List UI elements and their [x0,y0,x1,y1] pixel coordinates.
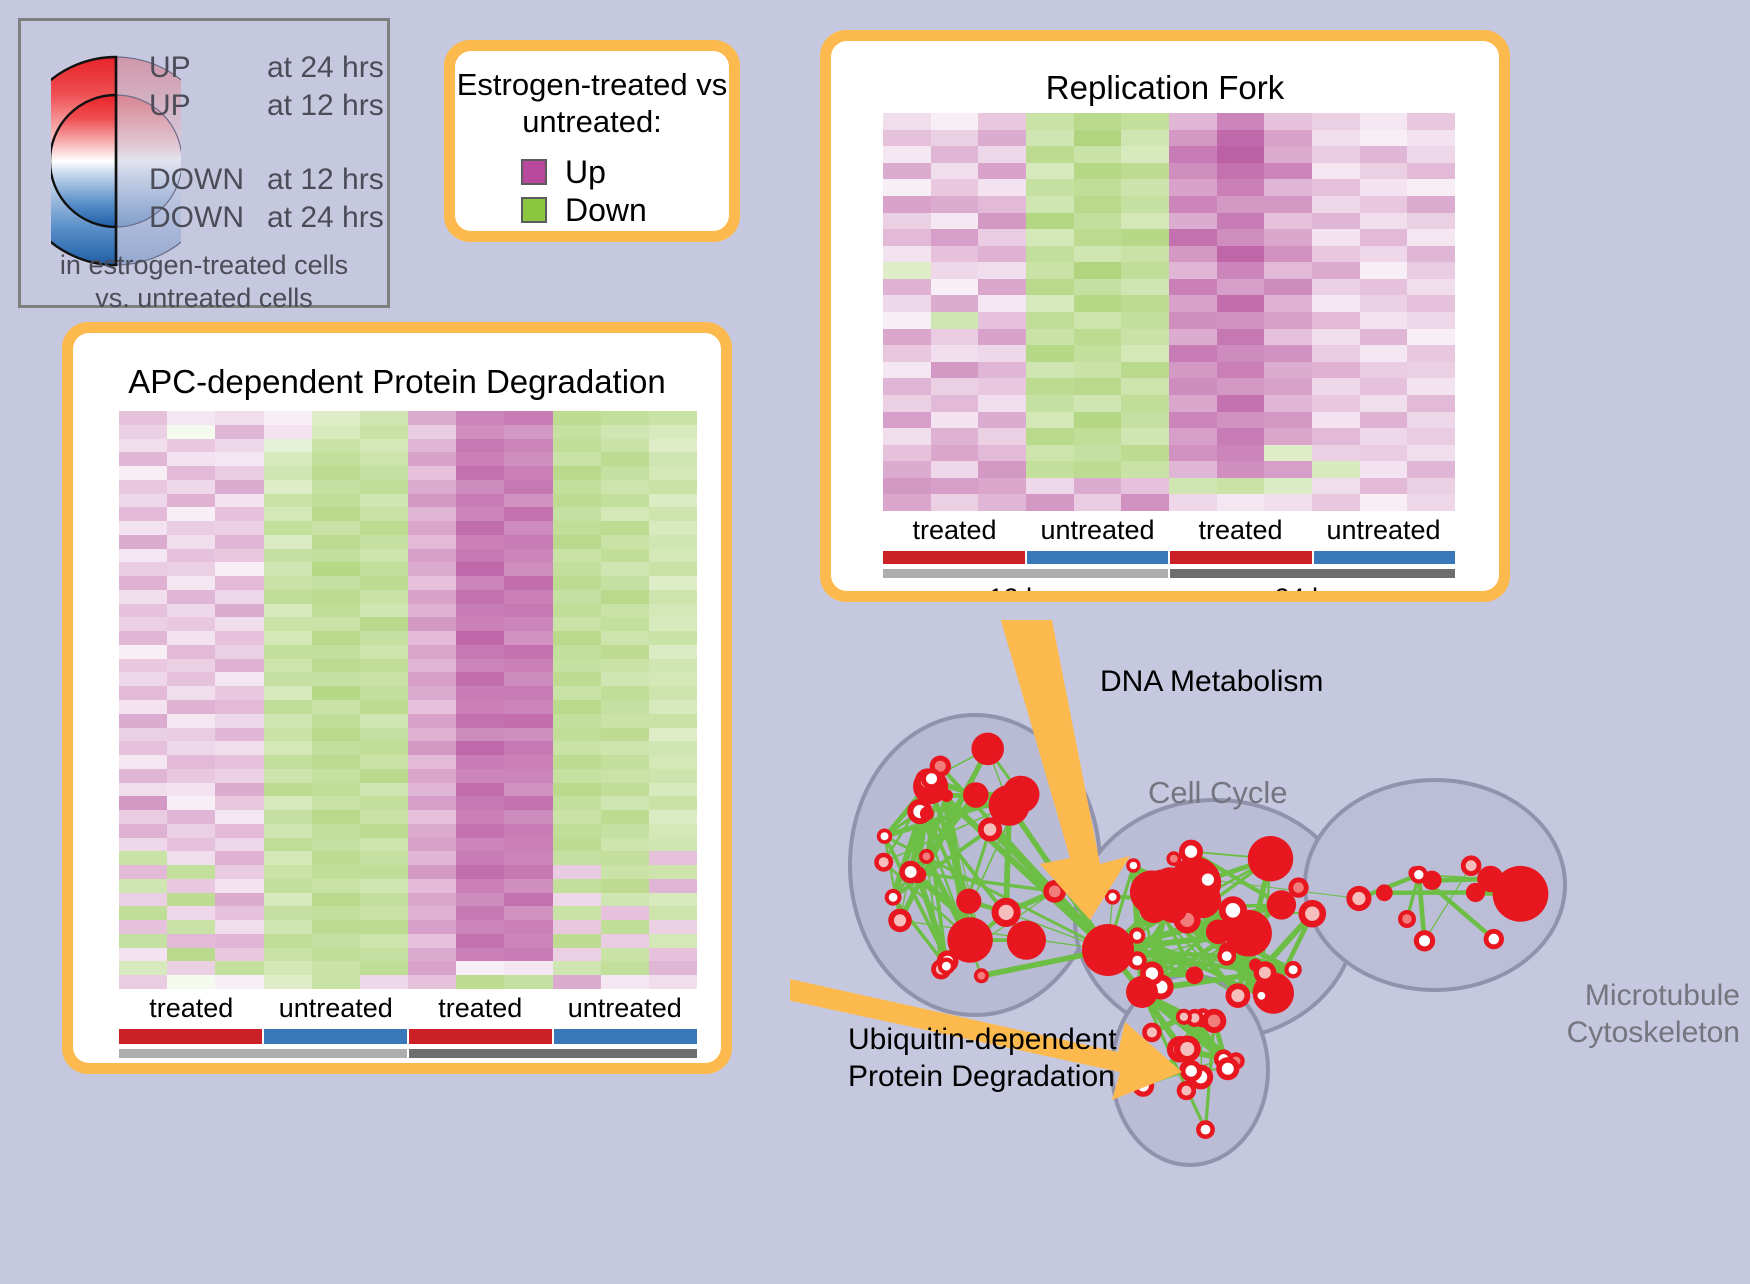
network-node-core [1466,860,1477,871]
replication-fork-panel: Replication Fork treateduntreatedtreated… [820,30,1510,602]
timepoint-label: 24 hrs [1169,583,1455,591]
legend-row-value: at 12 hrs [267,89,384,123]
estrogen-legend-title: Estrogen-treated vs untreated: [455,67,729,140]
network-node-core [923,853,931,861]
network-node [1267,890,1296,919]
group-color-bar [264,1029,407,1044]
network-node-core [889,893,898,902]
legend-row: UP at 24 hrs [149,51,389,89]
pathway-network-diagram: DNA Metabolism Cell Cycle Microtubule Cy… [790,620,1750,1279]
legend-row: DOWN at 24 hrs [149,201,389,239]
apc-panel: APC-dependent Protein Degradation treate… [62,322,732,1074]
network-node-core [1231,989,1244,1002]
network-node [1158,893,1188,923]
network-node-core [1259,967,1271,979]
legend-row-key: DOWN [149,201,267,235]
group-label: untreated [1026,515,1169,549]
legend-row-key: UP [149,89,267,123]
network-node [1007,921,1046,960]
apc-time-bars [119,1049,697,1058]
network-node-core [881,832,889,840]
network-node [970,923,988,941]
network-node [1126,976,1158,1008]
network-node-core [978,972,986,980]
network-node-core [1132,956,1142,966]
network-node [1082,924,1134,976]
network-node [1206,920,1231,945]
replication-fork-heatmap [883,113,1455,511]
network-node-core [1489,934,1500,945]
figure-canvas: UP at 24 hrs UP at 12 hrs DOWN at 12 hrs… [0,0,1750,1279]
network-node [940,789,953,802]
panel-title: APC-dependent Protein Degradation [73,363,721,401]
network-node-core [1352,892,1365,905]
legend-row-value: at 24 hrs [267,201,384,235]
group-color-bar [119,1029,262,1044]
network-node-core [1414,870,1423,879]
estrogen-legend-card: Estrogen-treated vs untreated: Up Down [444,40,740,242]
network-node-core [1109,893,1117,901]
replication-fork-group-bars [883,551,1455,564]
legend-row-key: DOWN [149,163,267,197]
network-node-core [1130,862,1138,870]
network-node [1248,836,1293,881]
network-node [971,733,1004,766]
network-label-dna-metabolism: DNA Metabolism [1100,665,1323,699]
network-node-core [879,857,889,867]
color-scale-rows: UP at 24 hrs UP at 12 hrs DOWN at 12 hrs… [149,51,389,239]
group-label: treated [119,993,264,1027]
network-label-cell-cycle: Cell Cycle [1148,775,1288,811]
network-node [956,889,981,914]
network-node-core [894,914,906,926]
network-node-core [1170,855,1178,863]
network-label-microtubule-cytoskeleton: Microtubule Cytoskeleton [1360,978,1740,1051]
apc-group-bars [119,1029,697,1044]
legend-row-key: UP [149,51,267,85]
color-scale-legend: UP at 24 hrs UP at 12 hrs DOWN at 12 hrs… [18,18,390,308]
legend-item-up: Up [521,153,647,191]
network-node-core [984,823,997,836]
network-node [1376,884,1393,901]
network-node-core [1186,1065,1197,1076]
replication-fork-time-bars [883,569,1455,578]
network-node-core [1208,1015,1221,1028]
group-color-bar [1170,551,1312,564]
network-node-core [1402,914,1411,923]
network-node-core [942,962,951,971]
network-node-core [1222,951,1232,961]
legend-row: UP at 12 hrs [149,89,389,127]
legend-item-label: Up [565,154,606,191]
network-node-core [1226,903,1241,918]
network-node [963,782,989,808]
timepoint-color-bar [883,569,1168,578]
apc-group-labels: treateduntreatedtreateduntreated [119,993,697,1027]
network-node-core [1289,965,1298,974]
network-node [920,807,934,821]
network-svg [790,620,1750,1279]
group-label: treated [408,993,553,1027]
legend-row-value: at 12 hrs [267,163,384,197]
network-node-core [1419,935,1430,946]
network-node-core [1258,992,1266,1000]
network-node-core [1049,886,1061,898]
group-color-bar [1027,551,1169,564]
replication-fork-time-labels: 12 hrs24 hrs [883,583,1455,591]
group-label: treated [1169,515,1312,549]
timepoint-color-bar [409,1049,697,1058]
network-node [1466,883,1485,902]
network-node-core [1202,874,1214,886]
network-node-core [1305,907,1319,921]
network-node-core [1222,1063,1234,1075]
apc-heatmap [119,411,697,989]
group-label: treated [883,515,1026,549]
up-color-swatch [521,159,547,185]
legend-row-value: at 24 hrs [267,51,384,85]
group-label: untreated [1312,515,1455,549]
network-node-core [1133,931,1141,939]
network-node-core [905,866,917,878]
panel-title: Replication Fork [831,69,1499,107]
timepoint-color-bar [119,1049,407,1058]
estrogen-legend-items: Up Down [521,153,647,229]
group-label: untreated [264,993,409,1027]
network-node-core [1201,1125,1211,1135]
network-node [1186,966,1204,984]
replication-fork-group-labels: treateduntreatedtreateduntreated [883,515,1455,549]
legend-row: DOWN at 12 hrs [149,163,389,201]
network-node-core [1181,1086,1191,1096]
group-color-bar [883,551,1025,564]
down-color-swatch [521,197,547,223]
network-node-core [926,773,937,784]
network-label-ubiquitin-protein-degradation: Ubiquitin-dependent Protein Degradation [848,1022,1117,1095]
legend-item-down: Down [521,191,647,229]
timepoint-color-bar [1170,569,1455,578]
network-node-core [1185,845,1197,857]
group-color-bar [1314,551,1456,564]
network-node-core [1147,1027,1157,1037]
group-label: untreated [553,993,698,1027]
network-node-core [999,905,1014,920]
group-color-bar [554,1029,697,1044]
network-node-core [1180,1042,1194,1056]
timepoint-label: 12 hrs [883,583,1169,591]
network-node-core [1293,882,1304,893]
legend-footer-text: in estrogen-treated cells vs. untreated … [21,249,387,315]
group-color-bar [409,1029,552,1044]
network-node-core [1180,1013,1188,1021]
legend-item-label: Down [565,192,647,229]
